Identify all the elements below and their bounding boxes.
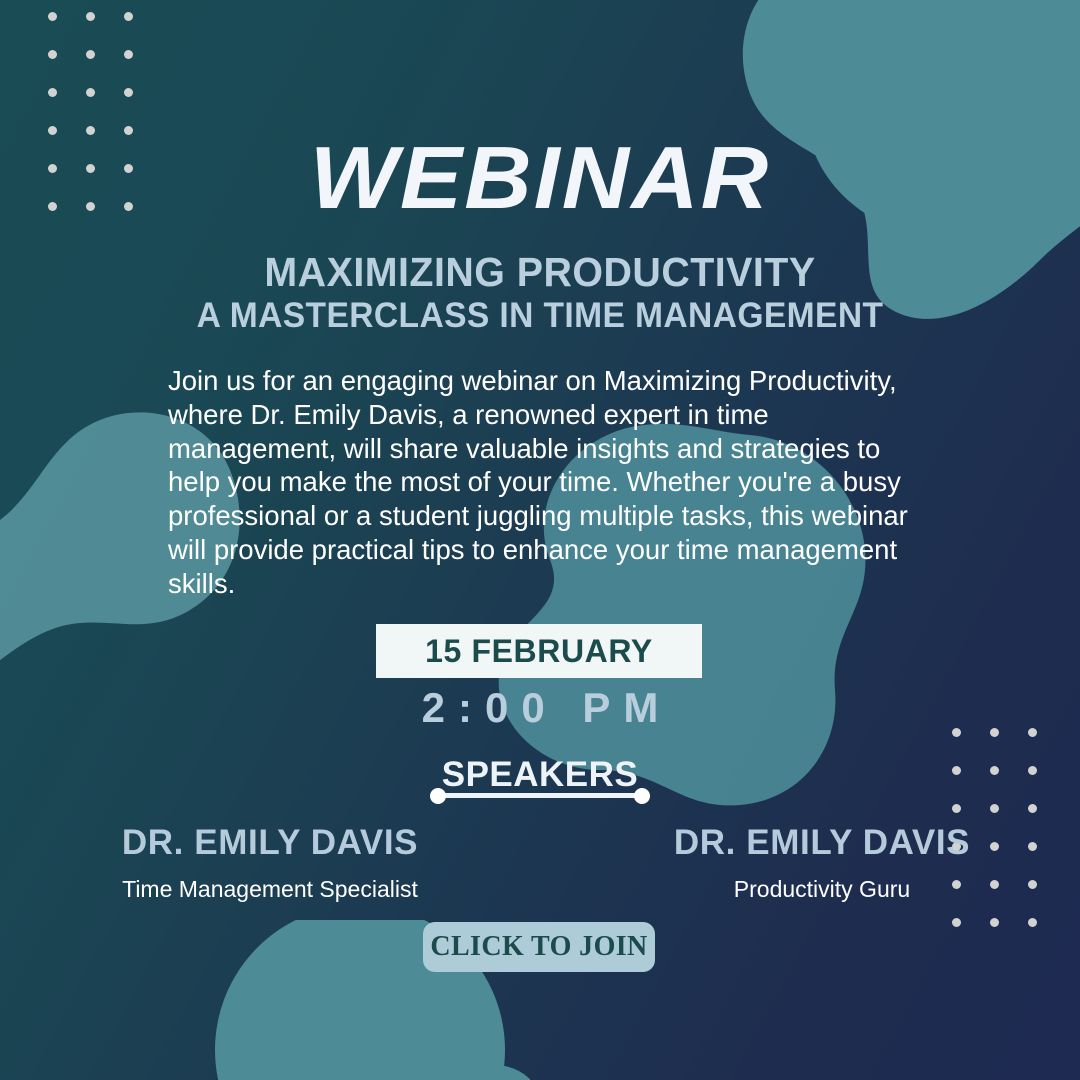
speaker-name: DR. EMILY DAVIS [60, 822, 480, 864]
date-badge: 15 FEBRUARY [376, 624, 702, 678]
speaker-role: Productivity Guru [612, 876, 1032, 904]
divider-bar [438, 793, 642, 798]
speaker-name: DR. EMILY DAVIS [612, 822, 1032, 864]
subtitle-line-1: MAXIMIZING PRODUCTIVITY [22, 250, 1059, 296]
webinar-poster: WEBINAR MAXIMIZING PRODUCTIVITY A MASTER… [0, 0, 1080, 1080]
speaker-card-right: DR. EMILY DAVIS Productivity Guru [612, 822, 1032, 904]
divider-cap-left-icon [430, 788, 446, 804]
time-label: 2:00 PM [0, 684, 1080, 732]
click-to-join-button[interactable]: CLICK TO JOIN [423, 922, 655, 972]
date-badge-label: 15 FEBRUARY [425, 633, 653, 670]
description-paragraph: Join us for an engaging webinar on Maxim… [168, 364, 913, 601]
page-title: WEBINAR [0, 134, 1080, 222]
subtitle: MAXIMIZING PRODUCTIVITY A MASTERCLASS IN… [0, 250, 1080, 336]
speaker-role: Time Management Specialist [60, 876, 480, 904]
subtitle-line-2: A MASTERCLASS IN TIME MANAGEMENT [22, 296, 1059, 336]
poster-content: WEBINAR MAXIMIZING PRODUCTIVITY A MASTER… [0, 0, 1080, 1080]
speaker-card-left: DR. EMILY DAVIS Time Management Speciali… [60, 822, 480, 904]
speakers-divider [430, 788, 650, 804]
divider-cap-right-icon [634, 788, 650, 804]
